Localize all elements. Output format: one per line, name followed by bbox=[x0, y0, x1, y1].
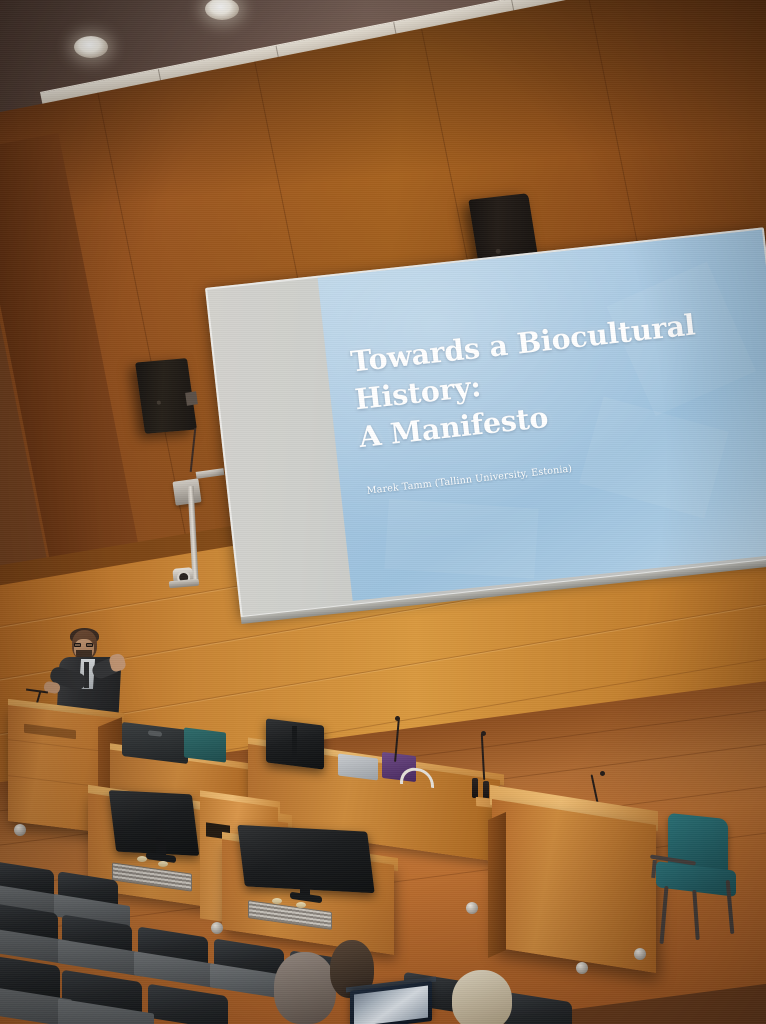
visitor-chair bbox=[650, 816, 742, 948]
caster-wheel bbox=[634, 948, 646, 960]
projected-slide: Towards a Biocultural History: A Manifes… bbox=[318, 230, 766, 601]
podium bbox=[492, 799, 656, 973]
audience-head bbox=[274, 952, 336, 1024]
desk-puck bbox=[158, 861, 168, 867]
monitor-stand bbox=[292, 726, 297, 762]
caster-wheel bbox=[466, 902, 478, 914]
equipment-case-teal bbox=[184, 727, 226, 762]
podium-side-panel bbox=[488, 812, 506, 958]
desk-puck bbox=[137, 856, 147, 862]
speaker-bracket bbox=[185, 391, 198, 405]
caster-wheel bbox=[211, 922, 223, 934]
handheld-mic bbox=[472, 778, 478, 798]
downlight-icon bbox=[74, 36, 108, 58]
desk-puck bbox=[296, 902, 306, 908]
caster-wheel bbox=[576, 962, 588, 974]
microphone-head-icon bbox=[481, 731, 486, 736]
audience-head bbox=[452, 970, 512, 1024]
lecture-hall-photo: Towards a Biocultural History: A Manifes… bbox=[0, 0, 766, 1024]
desk-puck bbox=[272, 898, 282, 904]
monitor bbox=[109, 790, 200, 856]
chair-leg bbox=[692, 890, 699, 940]
caster-wheel bbox=[14, 824, 26, 836]
chair-leg bbox=[659, 886, 668, 944]
projection-screen: Towards a Biocultural History: A Manifes… bbox=[205, 227, 766, 618]
microphone-head-icon bbox=[395, 716, 400, 721]
microphone-head-icon bbox=[600, 771, 605, 776]
glasses-icon bbox=[74, 643, 94, 647]
presenter-right-hand bbox=[108, 652, 127, 672]
